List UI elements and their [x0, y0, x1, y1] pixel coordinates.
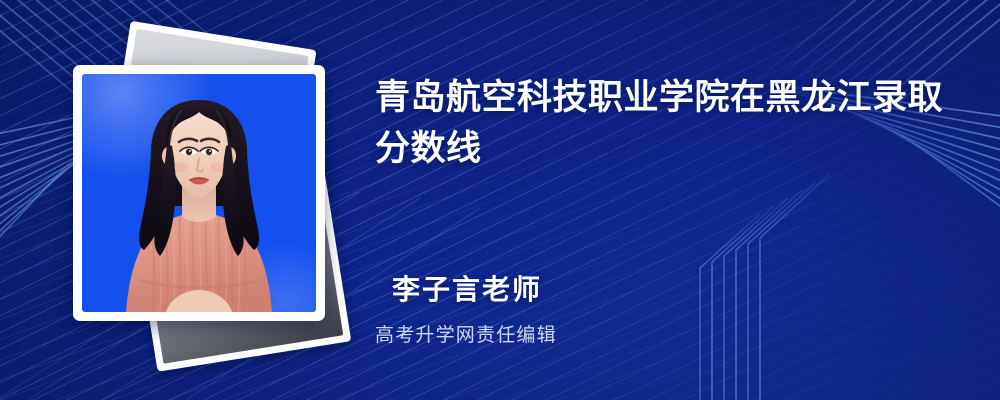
banner-text-block: 青岛航空科技职业学院在黑龙江录取分数线 李子言老师 高考升学网责任编辑: [375, 0, 975, 400]
author-role: 高考升学网责任编辑: [375, 320, 557, 347]
portrait-photo-card: [73, 65, 325, 321]
portrait-photo-stack: [48, 28, 348, 358]
article-header-banner: 青岛航空科技职业学院在黑龙江录取分数线 李子言老师 高考升学网责任编辑: [0, 0, 1000, 400]
portrait-photo: [82, 74, 316, 312]
page-title: 青岛航空科技职业学院在黑龙江录取分数线: [375, 72, 960, 174]
author-name: 李子言老师: [392, 268, 542, 308]
teacher-portrait-illustration: [82, 74, 316, 312]
